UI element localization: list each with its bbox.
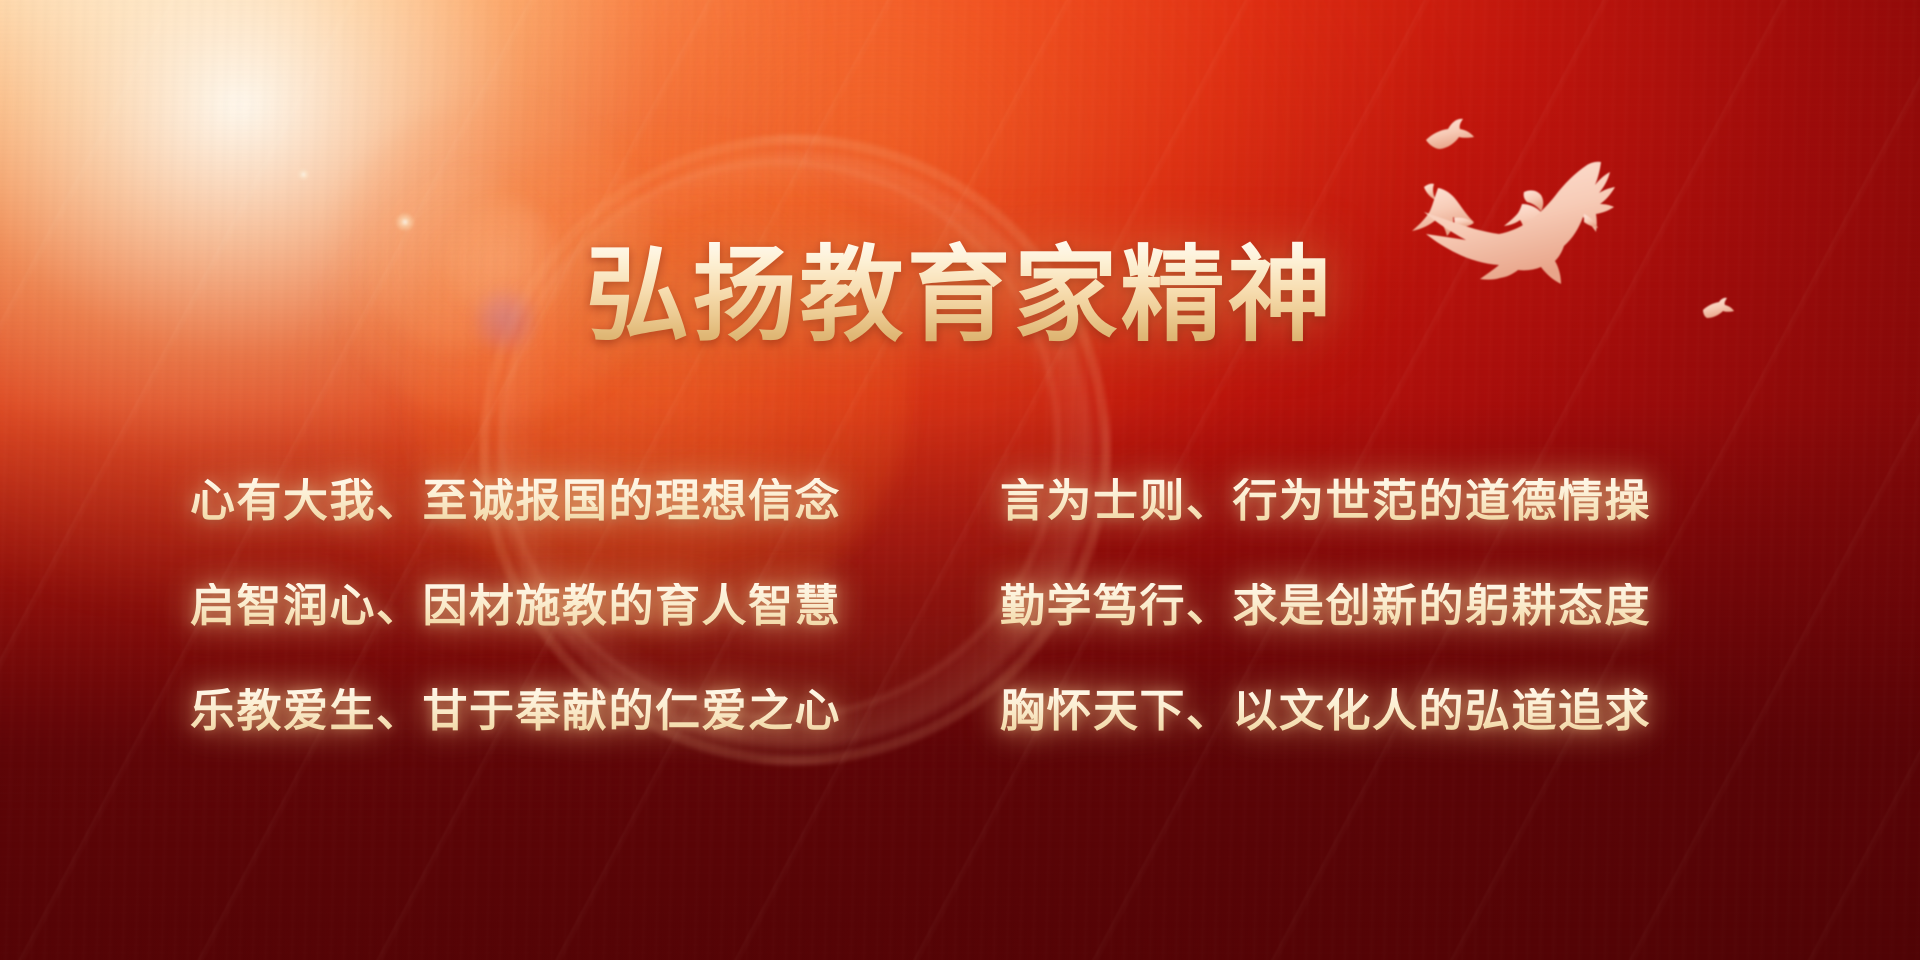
slogan-grid: 心有大我、至诚报国的理想信念 言为士则、行为世范的道德情操 启智润心、因材施教的… xyxy=(190,448,1750,763)
slogan-row1-right: 言为士则、行为世范的道德情操 xyxy=(1000,478,1651,523)
slogan-row3-left: 乐教爱生、甘于奉献的仁爱之心 xyxy=(190,688,1000,733)
slogan-row2-right: 勤学笃行、求是创新的躬耕态度 xyxy=(1000,583,1651,628)
slogan-row3-right: 胸怀天下、以文化人的弘道追求 xyxy=(1000,688,1651,733)
poster-canvas: 弘扬教育家精神 心有大我、至诚报国的理想信念 言为士则、行为世范的道德情操 启智… xyxy=(0,0,1920,960)
slogan-row2-left: 启智润心、因材施教的育人智慧 xyxy=(190,583,1000,628)
page-title: 弘扬教育家精神 xyxy=(0,240,1920,350)
slogan-row1-left: 心有大我、至诚报国的理想信念 xyxy=(190,478,1000,523)
dove-icon-small-top xyxy=(1426,119,1474,149)
